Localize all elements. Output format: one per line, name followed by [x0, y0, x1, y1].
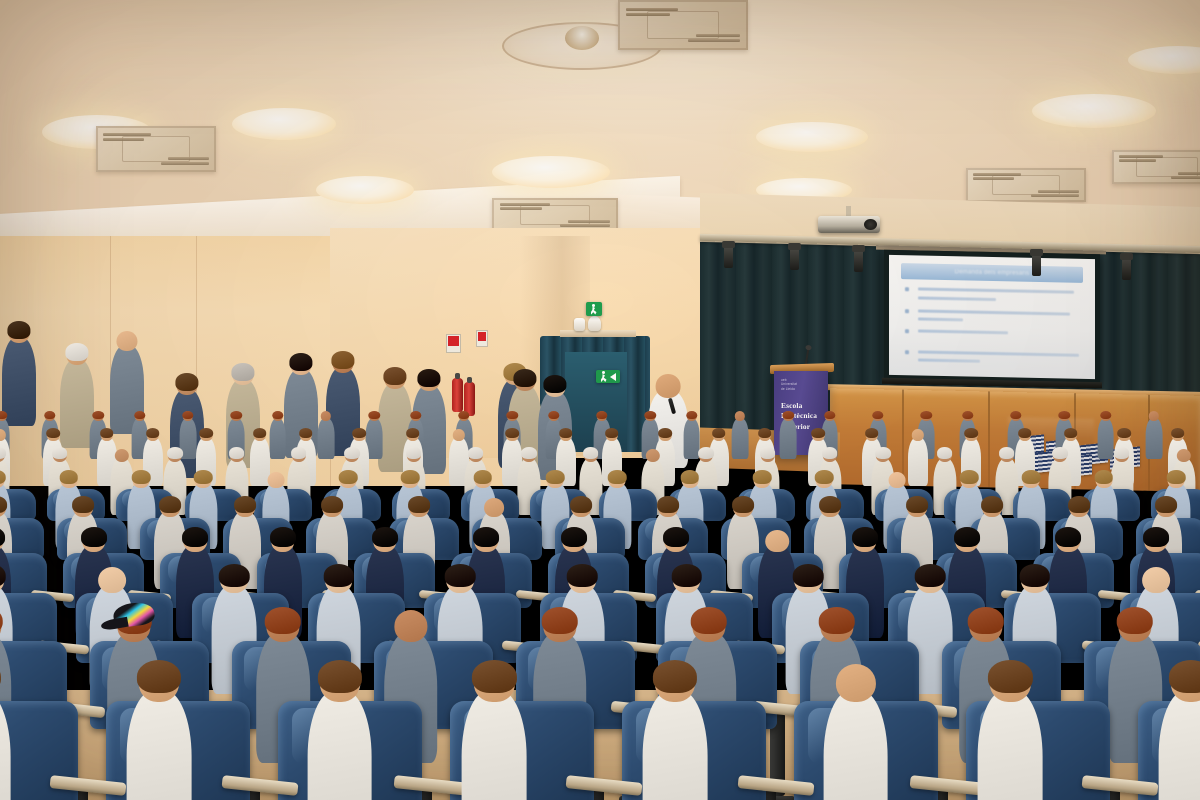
hair — [782, 411, 793, 420]
hair — [146, 428, 160, 438]
hair — [852, 527, 878, 547]
torso — [643, 690, 708, 800]
hair — [981, 496, 1003, 512]
hair — [321, 496, 343, 512]
hair — [0, 496, 7, 512]
hair — [100, 428, 114, 438]
auditorium-photo: Demanda dels empresaris — [0, 0, 1200, 800]
audience-member — [127, 654, 192, 800]
torso — [823, 690, 888, 800]
hair — [1143, 527, 1169, 547]
torso — [1146, 418, 1163, 459]
hair — [1010, 411, 1021, 420]
hair — [654, 372, 681, 380]
hair — [542, 607, 579, 635]
torso — [0, 690, 11, 800]
audience-member — [307, 654, 372, 800]
hair — [65, 343, 88, 360]
torso — [307, 690, 372, 800]
projection-screen: Demanda dels empresaris — [884, 250, 1100, 385]
hair — [686, 411, 697, 420]
hair — [234, 496, 256, 512]
hair — [1117, 428, 1131, 438]
emergency-exit-sign-door — [596, 370, 620, 383]
hair — [691, 607, 728, 635]
fire-equipment-sign-2 — [476, 330, 488, 347]
hair — [1019, 564, 1050, 587]
hair — [0, 527, 5, 547]
hair — [372, 527, 398, 547]
hair — [0, 411, 7, 420]
hair — [406, 447, 422, 459]
hair — [865, 428, 879, 438]
hair — [1022, 470, 1041, 484]
hair — [645, 447, 661, 452]
running-man-icon — [601, 371, 608, 382]
hair — [1169, 660, 1200, 693]
hair — [765, 527, 791, 535]
torso — [318, 418, 335, 459]
track-spotlight-2 — [790, 248, 799, 270]
ceiling-light-8 — [1032, 94, 1156, 128]
hair — [72, 496, 94, 512]
hair — [834, 660, 878, 673]
hair — [671, 564, 702, 587]
hair — [474, 527, 500, 547]
hair — [954, 527, 980, 547]
hair — [331, 351, 354, 368]
hair — [657, 496, 679, 512]
slide-title: Demanda dels empresaris — [901, 263, 1082, 282]
hair — [543, 375, 566, 392]
hair — [159, 496, 181, 512]
university-logo: ueb Universitat de Lleida — [781, 378, 797, 391]
hair — [392, 607, 429, 618]
hair — [458, 411, 469, 420]
hair — [230, 411, 241, 420]
hair — [968, 607, 1005, 635]
ceiling-light-2 — [232, 108, 336, 140]
hair — [819, 496, 841, 512]
hair — [474, 470, 493, 484]
hair — [52, 447, 68, 459]
paper-cup-1 — [574, 318, 585, 331]
hair — [0, 428, 6, 432]
audience-member — [1146, 409, 1163, 459]
hair — [681, 470, 700, 484]
hair — [46, 428, 60, 438]
hair — [824, 411, 835, 420]
hair — [822, 447, 838, 459]
running-man-icon — [591, 304, 598, 315]
track-spotlight-4 — [1032, 254, 1041, 276]
hair — [483, 496, 505, 503]
slide-surface: Demanda dels empresaris — [889, 255, 1095, 379]
hair — [567, 564, 598, 587]
hair — [60, 470, 79, 484]
hair — [194, 470, 213, 484]
hair — [289, 353, 312, 370]
hair — [270, 527, 296, 547]
paper-cup-2 — [588, 316, 601, 331]
hair — [231, 363, 254, 380]
hair — [570, 496, 592, 512]
hair — [0, 564, 6, 587]
hair — [1114, 447, 1130, 459]
audience-member — [0, 654, 11, 800]
hair — [344, 447, 360, 459]
hair — [658, 428, 672, 438]
torso — [462, 690, 527, 800]
hair — [339, 470, 358, 484]
hair — [605, 428, 619, 438]
hair — [818, 607, 855, 635]
track-spotlight-1 — [724, 246, 733, 268]
hair — [1176, 447, 1192, 452]
hair — [97, 564, 128, 573]
hair — [1052, 447, 1068, 459]
hvac-vent-3 — [492, 198, 618, 232]
hvac-vent-5 — [1112, 150, 1200, 184]
hair — [137, 660, 181, 693]
hair — [811, 428, 825, 438]
hair — [229, 447, 245, 459]
hair — [401, 470, 420, 484]
hair — [559, 428, 573, 438]
hair — [583, 447, 599, 459]
hair — [1167, 470, 1186, 484]
hair — [513, 369, 536, 386]
hair — [1155, 496, 1177, 512]
hair — [644, 411, 655, 420]
hair — [505, 428, 519, 438]
track-spotlight-3 — [854, 250, 863, 272]
hair — [872, 411, 883, 420]
hair — [291, 447, 307, 459]
hair — [548, 411, 559, 420]
torso — [1159, 690, 1200, 800]
hair — [546, 470, 565, 484]
torso — [780, 418, 797, 459]
audience-member — [1159, 654, 1200, 800]
hvac-vent-1 — [96, 126, 216, 172]
torso — [127, 690, 192, 800]
hair — [732, 496, 754, 512]
hair — [1095, 470, 1114, 484]
hair — [132, 470, 151, 484]
hair — [115, 329, 138, 336]
audience-member — [269, 409, 286, 459]
hvac-vent-4 — [966, 168, 1086, 202]
hair — [410, 411, 421, 420]
audience-member — [978, 654, 1043, 800]
hair — [0, 660, 1, 693]
projector-lens-icon — [864, 219, 877, 230]
hair — [0, 447, 6, 459]
hair — [1100, 411, 1111, 420]
hair — [445, 564, 476, 587]
hair — [318, 660, 362, 693]
hair — [7, 321, 30, 338]
hair — [406, 428, 420, 438]
hair — [758, 428, 772, 438]
torso — [978, 690, 1043, 800]
hair — [452, 428, 466, 432]
hair — [608, 470, 627, 484]
slide-title-bar: Demanda dels empresaris — [901, 263, 1082, 282]
hair — [561, 527, 587, 547]
ceiling-light-3 — [316, 176, 414, 204]
audience-member — [908, 426, 928, 486]
ceiling-projector — [818, 216, 880, 233]
hair — [383, 367, 406, 384]
hair — [81, 527, 107, 547]
hair — [1056, 527, 1082, 547]
hair — [408, 496, 430, 512]
fire-equipment-sign-1 — [446, 334, 461, 353]
hair — [167, 447, 183, 459]
exit-arrow-icon — [610, 373, 616, 381]
hair — [698, 447, 714, 459]
hair — [915, 564, 946, 587]
hair — [182, 411, 193, 420]
hair — [1018, 428, 1032, 438]
hair — [999, 447, 1015, 459]
hair — [299, 428, 313, 438]
hair — [134, 411, 145, 420]
recessed-spot-icon — [565, 26, 599, 50]
hair — [44, 411, 55, 420]
audience-member — [643, 654, 708, 800]
hair — [753, 470, 772, 484]
audience-member — [780, 409, 797, 459]
hair — [199, 428, 213, 438]
hair — [323, 564, 354, 587]
hair — [760, 447, 776, 459]
hair — [920, 411, 931, 420]
audience-member — [732, 409, 749, 459]
track-spotlight-5 — [1122, 258, 1131, 280]
audience-member — [462, 654, 527, 800]
hair — [1058, 411, 1069, 420]
ceiling-light-5 — [492, 156, 610, 188]
hair — [219, 564, 250, 587]
hair — [114, 447, 130, 452]
hair — [663, 527, 689, 547]
hair — [815, 470, 834, 484]
hair — [265, 607, 302, 635]
door-shelf — [560, 330, 636, 337]
hair — [937, 447, 953, 459]
torso — [269, 418, 286, 459]
hair — [92, 411, 103, 420]
hair — [368, 411, 379, 420]
torso — [908, 437, 928, 486]
hair — [521, 447, 537, 459]
hair — [272, 411, 283, 420]
hair — [417, 369, 440, 386]
hair — [875, 447, 891, 459]
hair — [267, 470, 286, 476]
fire-extinguisher-1 — [452, 378, 463, 412]
hair — [183, 527, 209, 547]
hair — [793, 564, 824, 587]
hair — [1117, 607, 1154, 635]
hair — [1064, 428, 1078, 438]
hair — [472, 660, 516, 693]
hair — [964, 428, 978, 438]
hair — [253, 428, 267, 438]
hair — [1171, 428, 1185, 438]
hair — [911, 428, 925, 432]
hair — [175, 373, 198, 390]
hair — [960, 470, 979, 484]
hair — [352, 428, 366, 438]
hair — [888, 470, 907, 476]
hair — [0, 470, 6, 484]
hair — [988, 660, 1032, 693]
hair — [653, 660, 697, 693]
audience-member — [823, 654, 888, 800]
hair — [906, 496, 928, 512]
ceiling-light-6 — [756, 122, 868, 152]
hair — [596, 411, 607, 420]
hair — [1141, 564, 1172, 573]
hair — [0, 607, 3, 635]
hair — [1068, 496, 1090, 512]
hair — [506, 411, 517, 420]
hair — [962, 411, 973, 420]
hair — [712, 428, 726, 438]
emergency-exit-sign-upper — [586, 302, 602, 316]
hvac-vent-2 — [618, 0, 748, 50]
audience-member — [318, 409, 335, 459]
torso — [732, 418, 749, 459]
hair — [468, 447, 484, 459]
